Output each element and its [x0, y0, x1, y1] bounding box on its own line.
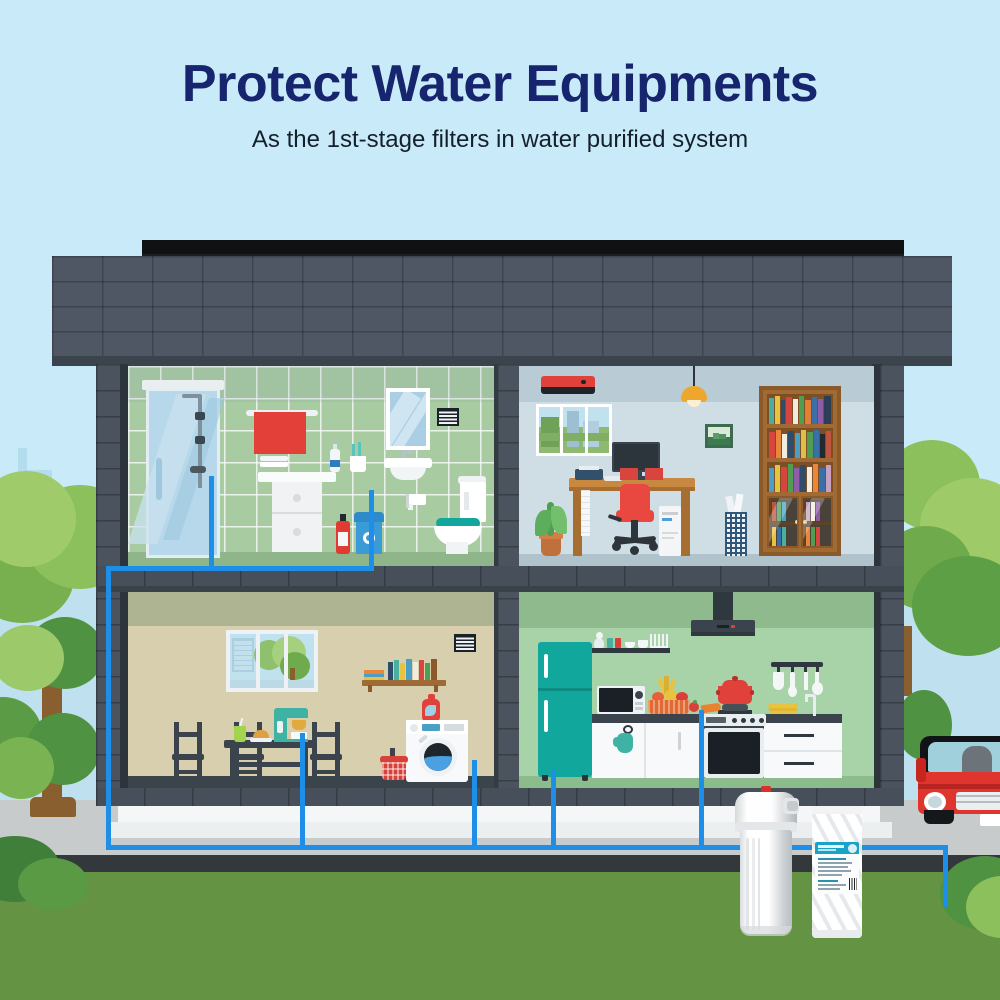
pipe-drop-shower [209, 476, 214, 570]
pipe-upper-horizontal [106, 566, 374, 571]
red-towel [254, 412, 306, 454]
computer-tower [659, 506, 681, 556]
window-city-view [536, 404, 612, 456]
vanity-cabinet [266, 472, 328, 552]
refrigerator[interactable] [538, 642, 592, 777]
oven[interactable] [702, 714, 766, 778]
cabinet-door-left[interactable] [767, 496, 799, 548]
bread-plate [250, 730, 272, 742]
soap-bottle [330, 444, 340, 472]
office-chair [612, 470, 658, 554]
plate-stack [768, 704, 798, 714]
header: Protect Water Equipments As the 1st-stag… [0, 0, 1000, 200]
sediment-cartridge [812, 806, 862, 938]
vegetables [689, 700, 721, 714]
air-conditioner [541, 376, 595, 394]
cartridge-label [815, 842, 859, 894]
microwave[interactable] [597, 686, 645, 714]
fruit-basket [648, 682, 690, 714]
pipe-drop-refrigerator [551, 770, 556, 849]
washing-machine[interactable] [406, 720, 468, 782]
waste-basket [725, 512, 747, 556]
wall-vent-dining [454, 634, 476, 652]
chair-right [310, 722, 342, 780]
bookshelf [759, 386, 841, 556]
printer [575, 466, 603, 480]
mirror [386, 388, 430, 450]
room-bathroom [128, 366, 494, 566]
laundry-basket [380, 754, 408, 780]
page-subtitle: As the 1st-stage filters in water purifi… [0, 126, 1000, 154]
potted-plant-office [533, 500, 567, 556]
roof-brick-band [52, 256, 952, 364]
toothbrush-cup [350, 450, 366, 472]
room-dining-laundry [128, 592, 494, 788]
bush-left-2 [18, 858, 88, 910]
cleaning-bottle [336, 514, 350, 554]
wall-shelf-dishes [592, 630, 670, 654]
printed-paper [581, 490, 590, 536]
window-garden-view [226, 630, 318, 692]
framed-picture [705, 424, 733, 448]
scene-root: Protect Water Equipments As the 1st-stag… [0, 0, 1000, 1000]
toilet-paper-holder [408, 494, 430, 510]
page-title: Protect Water Equipments [0, 58, 1000, 110]
toilet [434, 476, 488, 554]
room-kitchen [519, 592, 874, 788]
pipe-drop-washing-machine [472, 760, 477, 849]
cabinet-door-right[interactable] [801, 496, 833, 548]
pendant-lamp [679, 366, 709, 412]
filter-housing [735, 786, 797, 938]
pipe-drop-coffee-maker [300, 733, 305, 849]
pipe-drop-bathroom-sink [369, 490, 374, 570]
range-hood [691, 592, 755, 638]
room-home-office [519, 366, 874, 566]
pipe-drop-kitchen-sink [699, 710, 704, 849]
pipe-left-riser [106, 566, 111, 850]
chair-left [172, 722, 204, 780]
detergent-bottle [422, 694, 440, 722]
tree-right [890, 430, 1000, 710]
kitchen-faucet [805, 690, 823, 716]
book-shelf-wall [362, 654, 446, 690]
wall-sink [384, 450, 432, 480]
wall-vent-bathroom [437, 408, 459, 426]
juice-glass [234, 724, 246, 742]
cooking-pot [716, 680, 754, 706]
pipe-outlet-right [943, 845, 948, 907]
red-car [918, 706, 1000, 816]
oven-mitt [615, 725, 637, 753]
